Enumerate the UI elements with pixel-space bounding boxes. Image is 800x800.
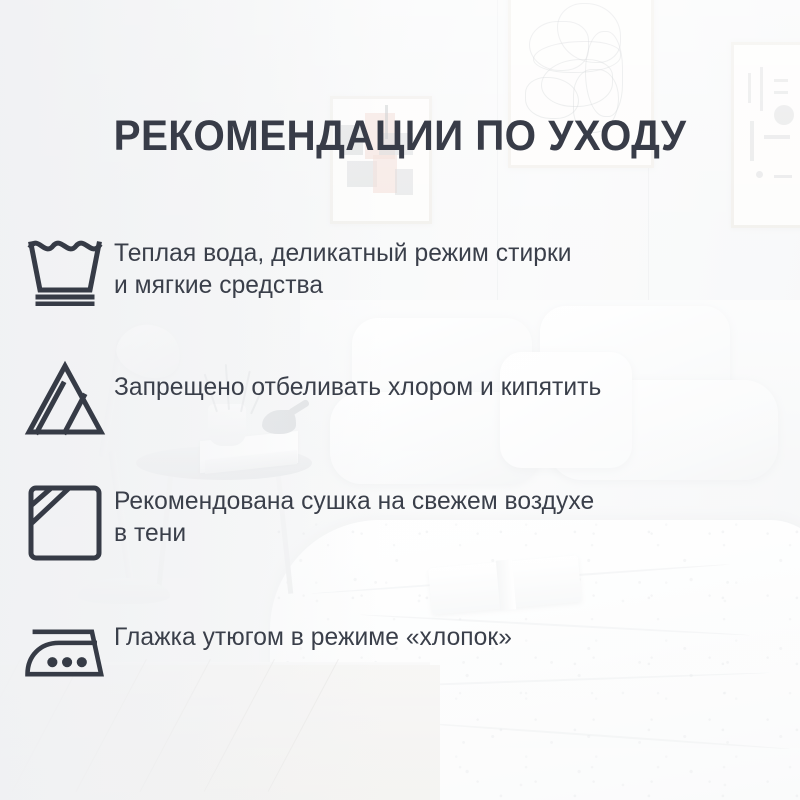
care-instruction-row: Рекомендована сушка на свежем воздухе в … (22, 480, 594, 564)
dry-in-shade-square-icon (22, 482, 108, 564)
icon-cell (22, 356, 114, 436)
icon-cell (22, 614, 114, 684)
care-instruction-text: Глажка утюгом в режиме «хлопок» (114, 614, 512, 654)
iron-three-dots-icon (22, 622, 114, 684)
content-layer: РЕКОМЕНДАЦИИ ПО УХОДУ Теплая вода, делик… (0, 0, 800, 800)
page-title: РЕКОМЕНДАЦИИ ПО УХОДУ (24, 112, 776, 161)
care-text-line: Теплая вода, деликатный режим стирки (114, 238, 572, 270)
care-instruction-text: Запрещено отбеливать хлором и кипятить (114, 356, 601, 404)
wash-tub-delicate-icon (22, 234, 108, 306)
care-instruction-row: Глажка утюгом в режиме «хлопок» (22, 614, 512, 684)
no-chlorine-bleach-triangle-icon (22, 360, 108, 436)
care-instructions-infographic: РЕКОМЕНДАЦИИ ПО УХОДУ Теплая вода, делик… (0, 0, 800, 800)
icon-cell (22, 232, 114, 306)
icon-cell (22, 480, 114, 564)
care-instruction-row: Теплая вода, деликатный режим стирки и м… (22, 232, 572, 306)
care-text-line: в тени (114, 518, 594, 550)
care-instruction-text: Теплая вода, деликатный режим стирки и м… (114, 232, 572, 302)
care-text-line: Глажка утюгом в режиме «хлопок» (114, 622, 512, 654)
care-instruction-text: Рекомендована сушка на свежем воздухе в … (114, 480, 594, 550)
care-text-line: Рекомендована сушка на свежем воздухе (114, 486, 594, 518)
care-text-line: и мягкие средства (114, 270, 572, 302)
care-text-line: Запрещено отбеливать хлором и кипятить (114, 372, 601, 404)
care-instruction-row: Запрещено отбеливать хлором и кипятить (22, 356, 601, 436)
